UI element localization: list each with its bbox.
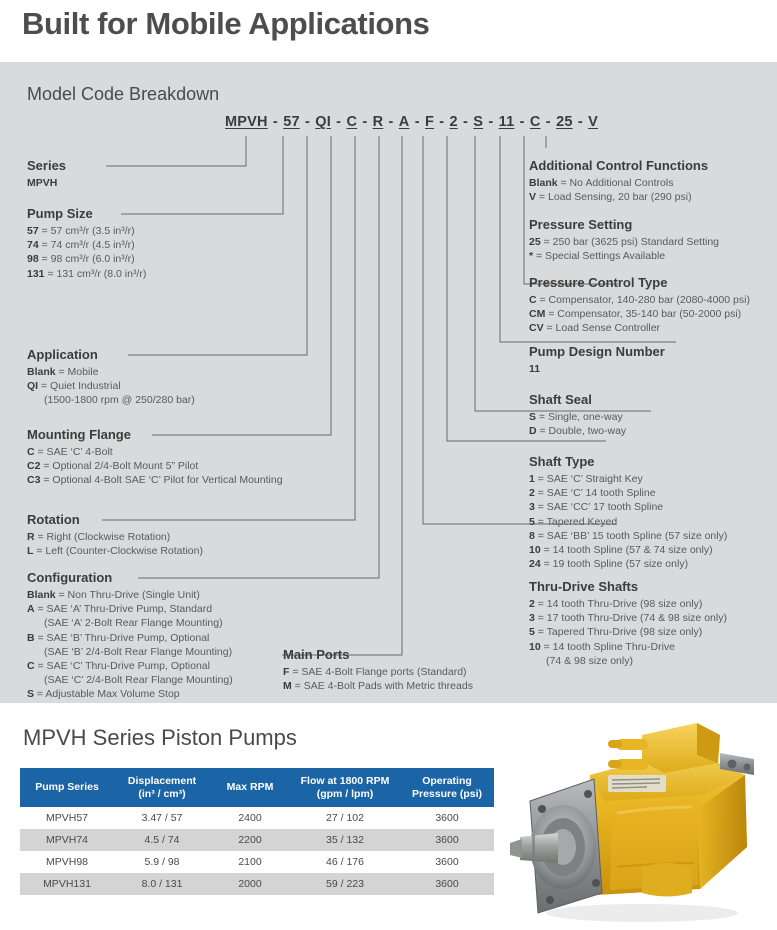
table-cell: 2400: [210, 807, 290, 829]
callout-line: 3 = 17 tooth Thru-Drive (74 & 98 size on…: [529, 611, 727, 625]
callout-thru-drive-shafts: Thru-Drive Shafts 2 = 14 tooth Thru-Driv…: [529, 579, 727, 668]
callout-line: CV = Load Sense Controller: [529, 321, 750, 335]
callout-line: 1 = SAE ‘C’ Straight Key: [529, 472, 727, 486]
model-code-segment: R: [373, 114, 384, 130]
table-column-header: Max RPM: [210, 768, 290, 807]
model-code-segment: S: [473, 114, 483, 130]
table-column-header: Displacement(in³ / cm³): [114, 768, 210, 807]
callout-line: 74 = 74 cm³/r (4.5 in³/r): [27, 238, 146, 252]
callout-series: Series MPVH: [27, 158, 66, 190]
callout-line: 8 = SAE ‘BB’ 15 tooth Spline (57 size on…: [529, 529, 727, 543]
callout-lines: 25 = 250 bar (3625 psi) Standard Setting…: [529, 235, 719, 263]
callout-lines: Blank = Non Thru-Drive (Single Unit)A = …: [27, 588, 233, 702]
callout-lines: 1 = SAE ‘C’ Straight Key2 = SAE ‘C’ 14 t…: [529, 472, 727, 571]
table-row: MPVH985.9 / 98210046 / 1763600: [20, 851, 494, 873]
callout-title: Pressure Control Type: [529, 275, 750, 290]
table-cell: 35 / 132: [290, 829, 400, 851]
callout-line: L = Left (Counter-Clockwise Rotation): [27, 544, 203, 558]
piston-pump-photo: [492, 717, 777, 925]
table-cell: 3600: [400, 807, 494, 829]
callout-line: S = Adjustable Max Volume Stop: [27, 687, 233, 701]
callout-lines: Blank = No Additional ControlsV = Load S…: [529, 176, 708, 204]
callout-line: Blank = Mobile: [27, 365, 195, 379]
callout-lines: C = SAE ‘C’ 4-BoltC2 = Optional 2/4-Bolt…: [27, 445, 283, 488]
table-cell: MPVH74: [20, 829, 114, 851]
callout-pump-design-number: Pump Design Number 11: [529, 344, 665, 376]
callout-line: QI = Quiet Industrial: [27, 379, 195, 393]
model-code-separator: -: [300, 114, 316, 130]
table-cell: MPVH57: [20, 807, 114, 829]
model-code-separator: -: [409, 114, 425, 130]
callout-line: Blank = Non Thru-Drive (Single Unit): [27, 588, 233, 602]
callout-line: D = Double, two-way: [529, 424, 626, 438]
callout-value: 11: [529, 362, 665, 376]
callout-line: C = SAE ‘C’ 4-Bolt: [27, 445, 283, 459]
specs-section: MPVH Series Piston Pumps Pump SeriesDisp…: [0, 703, 777, 929]
callout-line: 57 = 57 cm³/r (3.5 in³/r): [27, 224, 146, 238]
model-code-separator: -: [434, 114, 450, 130]
callout-title: Configuration: [27, 570, 233, 585]
model-code-string: MPVH - 57 - QI - C - R - A - F - 2 - S -…: [225, 114, 598, 130]
table-cell: 3600: [400, 873, 494, 895]
callout-line: A = SAE ‘A’ Thru-Drive Pump, Standard: [27, 602, 233, 616]
table-cell: 59 / 223: [290, 873, 400, 895]
callout-line: (SAE ‘A’ 2-Bolt Rear Flange Mounting): [27, 616, 233, 630]
table-cell: 27 / 102: [290, 807, 400, 829]
page-title: Built for Mobile Applications: [22, 6, 429, 42]
callout-line: C = SAE ‘C’ Thru-Drive Pump, Optional: [27, 659, 233, 673]
model-code-separator: -: [268, 114, 284, 130]
callout-title: Rotation: [27, 512, 203, 527]
callout-pump-size: Pump Size 57 = 57 cm³/r (3.5 in³/r)74 = …: [27, 206, 146, 281]
callout-mounting-flange: Mounting Flange C = SAE ‘C’ 4-BoltC2 = O…: [27, 427, 283, 488]
callout-line: Blank = No Additional Controls: [529, 176, 708, 190]
callout-title: Thru-Drive Shafts: [529, 579, 727, 594]
model-code-segment: F: [425, 114, 434, 130]
callout-configuration: Configuration Blank = Non Thru-Drive (Si…: [27, 570, 233, 702]
callout-title: Series: [27, 158, 66, 173]
callout-line: (74 & 98 size only): [529, 654, 727, 668]
callout-line: * = Special Settings Available: [529, 249, 719, 263]
callout-application: Application Blank = MobileQI = Quiet Ind…: [27, 347, 195, 408]
callout-title: Pump Size: [27, 206, 146, 221]
callout-line: 5 = Tapered Keyed: [529, 515, 727, 529]
model-code-segment: 11: [499, 114, 515, 130]
callout-line: C2 = Optional 2/4-Bolt Mount 5” Pilot: [27, 459, 283, 473]
callout-line: (SAE ‘B’ 2/4-Bolt Rear Flange Mounting): [27, 645, 233, 659]
callout-line: M = SAE 4-Bolt Pads with Metric threads: [283, 679, 473, 693]
callout-line: 10 = 14 tooth Spline (57 & 74 size only): [529, 543, 727, 557]
callout-line: 3 = SAE ‘CC’ 17 tooth Spline: [529, 500, 727, 514]
callout-line: S = Single, one-way: [529, 410, 626, 424]
table-cell: 3.47 / 57: [114, 807, 210, 829]
table-header-row: Pump SeriesDisplacement(in³ / cm³)Max RP…: [20, 768, 494, 807]
callout-title: Mounting Flange: [27, 427, 283, 442]
callout-lines: C = Compensator, 140-280 bar (2080-4000 …: [529, 293, 750, 336]
callout-title: Additional Control Functions: [529, 158, 708, 173]
specs-heading: MPVH Series Piston Pumps: [23, 725, 297, 751]
model-code-segment: 25: [556, 114, 573, 130]
callout-line: B = SAE ‘B’ Thru-Drive Pump, Optional: [27, 631, 233, 645]
callout-lines: F = SAE 4-Bolt Flange ports (Standard)M …: [283, 665, 473, 693]
specs-table: Pump SeriesDisplacement(in³ / cm³)Max RP…: [20, 768, 494, 895]
callout-additional-control-functions: Additional Control Functions Blank = No …: [529, 158, 708, 204]
callout-shaft-seal: Shaft Seal S = Single, one-wayD = Double…: [529, 392, 626, 438]
table-cell: MPVH98: [20, 851, 114, 873]
table-column-header: Pump Series: [20, 768, 114, 807]
model-code-separator: -: [357, 114, 373, 130]
callout-line: V = Load Sensing, 20 bar (290 psi): [529, 190, 708, 204]
table-column-header: Flow at 1800 RPM(gpm / lpm): [290, 768, 400, 807]
callout-title: Shaft Type: [529, 454, 727, 469]
table-cell: 3600: [400, 829, 494, 851]
callout-line: C = Compensator, 140-280 bar (2080-4000 …: [529, 293, 750, 307]
callout-shaft-type: Shaft Type 1 = SAE ‘C’ Straight Key2 = S…: [529, 454, 727, 571]
table-cell: 2200: [210, 829, 290, 851]
callout-main-ports: Main Ports F = SAE 4-Bolt Flange ports (…: [283, 647, 473, 693]
model-code-separator: -: [331, 114, 347, 130]
callout-pressure-setting: Pressure Setting 25 = 250 bar (3625 psi)…: [529, 217, 719, 263]
model-code-separator: -: [483, 114, 499, 130]
callout-lines: Blank = MobileQI = Quiet Industrial(1500…: [27, 365, 195, 408]
model-code-segment: MPVH: [225, 114, 268, 130]
table-row: MPVH573.47 / 57240027 / 1023600: [20, 807, 494, 829]
model-code-segment: V: [588, 114, 598, 130]
callout-line: 25 = 250 bar (3625 psi) Standard Setting: [529, 235, 719, 249]
model-code-breakdown-panel: Model Code Breakdown MPVH - 57 - QI - C …: [0, 62, 777, 703]
callout-value: MPVH: [27, 176, 66, 190]
model-code-segment: C: [530, 114, 541, 130]
callout-line: F = SAE 4-Bolt Flange ports (Standard): [283, 665, 473, 679]
model-code-segment: A: [399, 114, 410, 130]
callout-line: (1500-1800 rpm @ 250/280 bar): [27, 393, 195, 407]
callout-pressure-control-type: Pressure Control Type C = Compensator, 1…: [529, 275, 750, 336]
table-cell: 8.0 / 131: [114, 873, 210, 895]
model-code-separator: -: [573, 114, 589, 130]
callout-line: 5 = Tapered Thru-Drive (98 size only): [529, 625, 727, 639]
model-code-segment: 57: [283, 114, 300, 130]
model-code-separator: -: [514, 114, 530, 130]
callout-lines: S = Single, one-wayD = Double, two-way: [529, 410, 626, 438]
callout-line: C3 = Optional 4-Bolt SAE ‘C’ Pilot for V…: [27, 473, 283, 487]
callout-line: (SAE ‘C’ 2/4-Bolt Rear Flange Mounting): [27, 673, 233, 687]
model-code-separator: -: [541, 114, 557, 130]
table-cell: 3600: [400, 851, 494, 873]
callout-line: 2 = 14 tooth Thru-Drive (98 size only): [529, 597, 727, 611]
table-row: MPVH1318.0 / 131200059 / 2233600: [20, 873, 494, 895]
model-code-segment: C: [346, 114, 357, 130]
callout-line: 98 = 98 cm³/r (6.0 in³/r): [27, 252, 146, 266]
callout-rotation: Rotation R = Right (Clockwise Rotation)L…: [27, 512, 203, 558]
callout-line: 131 = 131 cm³/r (8.0 in³/r): [27, 267, 146, 281]
table-cell: 2000: [210, 873, 290, 895]
model-code-segment: 2: [450, 114, 458, 130]
callout-lines: R = Right (Clockwise Rotation)L = Left (…: [27, 530, 203, 558]
table-column-header: OperatingPressure (psi): [400, 768, 494, 807]
model-code-separator: -: [458, 114, 474, 130]
model-code-segment: QI: [315, 114, 331, 130]
callout-title: Application: [27, 347, 195, 362]
model-code-separator: -: [383, 114, 399, 130]
callout-title: Pressure Setting: [529, 217, 719, 232]
callout-line: 10 = 14 tooth Spline Thru-Drive: [529, 640, 727, 654]
callout-title: Pump Design Number: [529, 344, 665, 359]
table-cell: 4.5 / 74: [114, 829, 210, 851]
callout-title: Shaft Seal: [529, 392, 626, 407]
table-row: MPVH744.5 / 74220035 / 1323600: [20, 829, 494, 851]
callout-line: R = Right (Clockwise Rotation): [27, 530, 203, 544]
table-cell: 5.9 / 98: [114, 851, 210, 873]
table-cell: MPVH131: [20, 873, 114, 895]
callout-lines: 2 = 14 tooth Thru-Drive (98 size only)3 …: [529, 597, 727, 668]
callout-lines: 57 = 57 cm³/r (3.5 in³/r)74 = 74 cm³/r (…: [27, 224, 146, 281]
diagram-heading: Model Code Breakdown: [27, 84, 219, 105]
callout-line: 2 = SAE ‘C’ 14 tooth Spline: [529, 486, 727, 500]
callout-line: CM = Compensator, 35-140 bar (50-2000 ps…: [529, 307, 750, 321]
callout-line: 24 = 19 tooth Spline (57 size only): [529, 557, 727, 571]
callout-title: Main Ports: [283, 647, 473, 662]
table-cell: 2100: [210, 851, 290, 873]
table-cell: 46 / 176: [290, 851, 400, 873]
